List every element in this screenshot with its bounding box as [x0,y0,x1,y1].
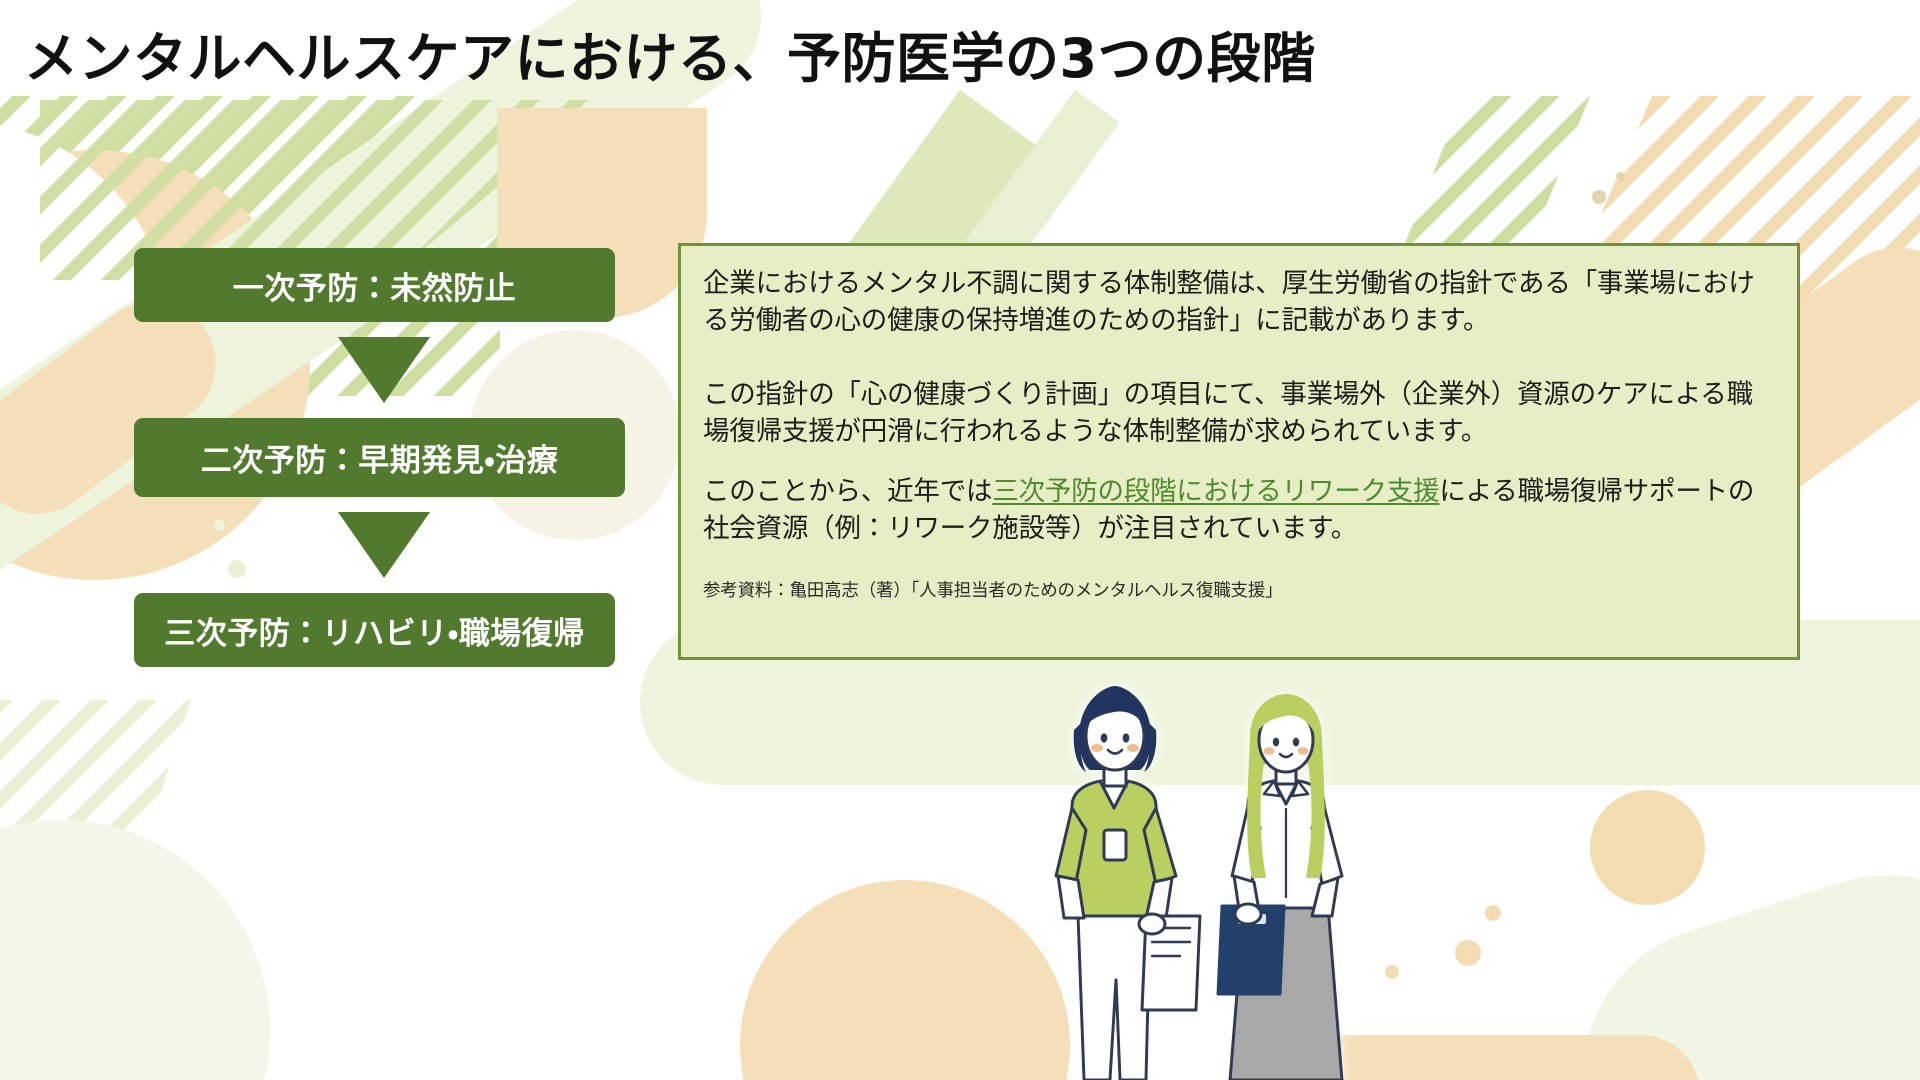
paragraph-text: 企業におけるメンタル不調に関する体制整備は、厚生労働省の指針である「事業場におけ… [703,268,1755,336]
flow-step-label: 二次予防：早期発見・治療 [201,435,559,480]
prevention-stages-flow: 一次予防：未然防止 二次予防：早期発見・治療 三次予防：リハビリ・職場復帰 [134,248,634,667]
panel-paragraph-3: このことから、近年では三次予防の段階におけるリワーク支援による職場復帰サポートの… [703,474,1775,547]
slide-canvas: メンタルヘルスケアにおける、予防医学の3つの段階 一次予防：未然防止 二次予防：… [0,0,1920,1080]
flow-step-secondary-prevention[interactable]: 二次予防：早期発見・治療 [134,418,625,497]
paragraph-text: この指針の「心の健康づくり計画」の項目にて、事業場外（企業外）資源のケアによる職… [703,379,1753,447]
rework-support-link[interactable]: 三次予防の段階におけるリワーク支援 [992,476,1439,507]
pale-green-arc-bottom-right [1545,836,1920,1080]
explanation-panel: 企業におけるメンタル不調に関する体制整備は、厚生労働省の指針である「事業場におけ… [678,243,1800,660]
figure-nurse-with-folder [1056,686,1200,1080]
flow-arrow-2-wrap [134,497,634,593]
dot-tan-5 [1616,172,1625,181]
dot-tan-4 [1592,190,1606,204]
figure-woman-with-clipboard [1218,694,1342,1080]
reference-footnote: 参考資料：亀田高志（著）「人事担当者のためのメンタルヘルス復職支援」 [703,577,1775,602]
flow-step-primary-prevention[interactable]: 一次予防：未然防止 [134,248,615,322]
two-women-illustration [1000,680,1460,1080]
chevron-down-icon [338,512,430,578]
pale-disc-bottom-left [0,820,270,1080]
flow-arrow-1-wrap [134,322,634,418]
chevron-down-icon [338,337,430,403]
flow-step-tertiary-prevention[interactable]: 三次予防：リハビリ・職場復帰 [134,593,615,667]
paragraph-text-lead: このことから、近年では [703,476,992,507]
hatch-band-bottom-left [0,700,290,1000]
flow-step-label: 三次予防：リハビリ・職場復帰 [164,608,585,653]
panel-paragraph-2: この指針の「心の健康づくり計画」の項目にて、事業場外（企業外）資源のケアによる職… [703,377,1775,450]
tan-circle-right-lower [1590,790,1705,905]
title-bar: メンタルヘルスケアにおける、予防医学の3つの段階 [0,0,1920,118]
page-title: メンタルヘルスケアにおける、予防医学の3つの段階 [24,14,1316,93]
dot-tan-2 [1485,905,1501,921]
panel-paragraph-1: 企業におけるメンタル不調に関する体制整備は、厚生労働省の指針である「事業場におけ… [703,266,1775,339]
flow-step-label: 一次予防：未然防止 [233,263,517,308]
